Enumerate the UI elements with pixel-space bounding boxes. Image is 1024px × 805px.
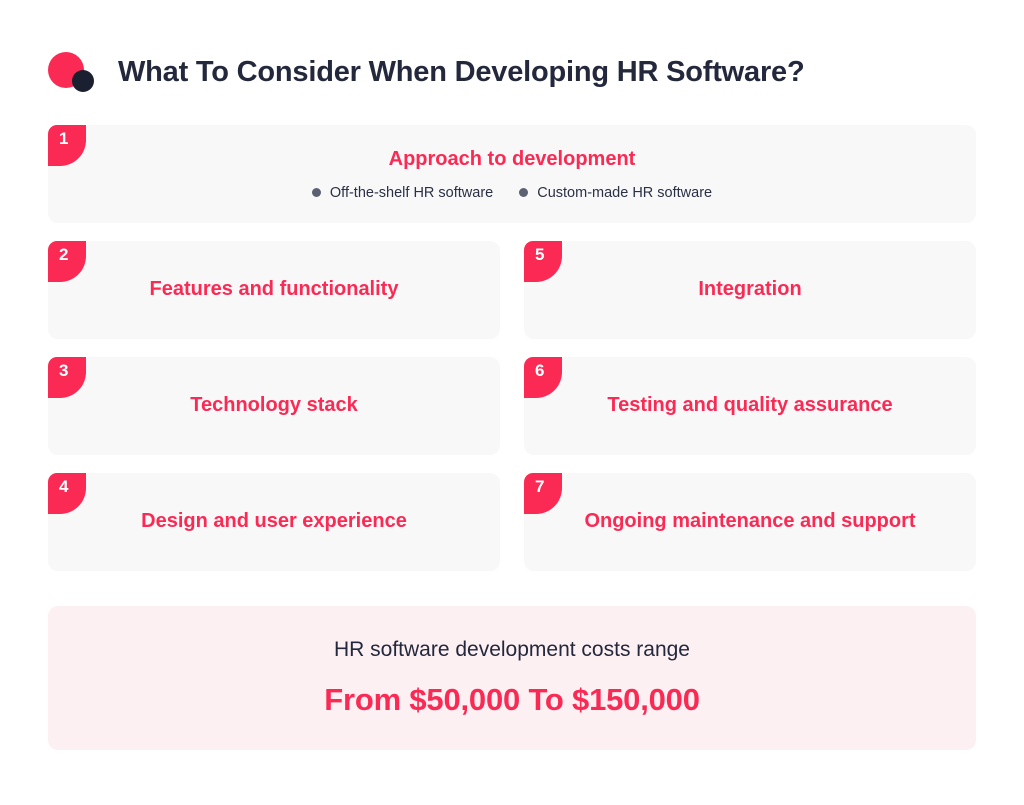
card-row-1: 1 Approach to development Off-the-shelf … <box>48 125 976 223</box>
card-title: Integration <box>524 277 976 303</box>
cost-range-caption: HR software development costs range <box>334 638 690 662</box>
card-testing-and-quality-assurance[interactable]: 6 Testing and quality assurance <box>524 357 976 455</box>
bullet-label: Custom-made HR software <box>537 185 712 201</box>
card-title: Testing and quality assurance <box>524 393 976 419</box>
bullet-dot-icon <box>312 188 321 197</box>
card-features-and-functionality[interactable]: 2 Features and functionality <box>48 241 500 339</box>
card-title: Features and functionality <box>48 277 500 303</box>
card-integration[interactable]: 5 Integration <box>524 241 976 339</box>
card-title: Approach to development <box>48 147 976 173</box>
cost-range-amount: From $50,000 To $150,000 <box>324 682 699 718</box>
card-technology-stack[interactable]: 3 Technology stack <box>48 357 500 455</box>
card-title: Design and user experience <box>48 509 500 535</box>
card-number-badge: 2 <box>48 241 86 282</box>
card-design-and-user-experience[interactable]: 4 Design and user experience <box>48 473 500 571</box>
bullet-dot-icon <box>519 188 528 197</box>
card-number-badge: 6 <box>524 357 562 398</box>
card-number-badge: 5 <box>524 241 562 282</box>
infographic-page: What To Consider When Developing HR Soft… <box>0 0 1024 805</box>
card-title: Ongoing maintenance and support <box>524 509 976 535</box>
cost-range-panel: HR software development costs range From… <box>48 606 976 750</box>
bullet-list: Off-the-shelf HR software Custom-made HR… <box>312 185 712 201</box>
circle-dark-icon <box>72 70 94 92</box>
brand-logo <box>48 48 104 96</box>
list-item: Off-the-shelf HR software <box>312 185 493 201</box>
card-row-2: 2 Features and functionality 5 Integrati… <box>48 241 976 339</box>
card-row-4: 4 Design and user experience 7 Ongoing m… <box>48 473 976 571</box>
page-title: What To Consider When Developing HR Soft… <box>118 56 804 89</box>
header: What To Consider When Developing HR Soft… <box>48 44 804 100</box>
card-number-badge: 3 <box>48 357 86 398</box>
card-ongoing-maintenance-and-support[interactable]: 7 Ongoing maintenance and support <box>524 473 976 571</box>
card-row-3: 3 Technology stack 6 Testing and quality… <box>48 357 976 455</box>
card-title: Technology stack <box>48 393 500 419</box>
bullet-label: Off-the-shelf HR software <box>330 185 493 201</box>
card-grid: 1 Approach to development Off-the-shelf … <box>48 125 976 589</box>
list-item: Custom-made HR software <box>519 185 712 201</box>
card-approach-to-development[interactable]: 1 Approach to development Off-the-shelf … <box>48 125 976 223</box>
card-number-badge: 7 <box>524 473 562 514</box>
card-number-badge: 4 <box>48 473 86 514</box>
